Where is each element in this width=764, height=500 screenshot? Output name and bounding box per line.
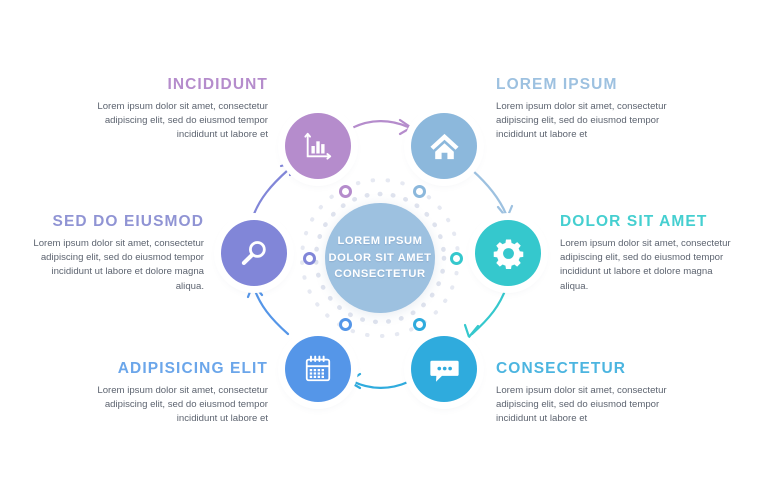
heading-adipisicing-elit: ADIPISICING ELIT bbox=[88, 360, 268, 378]
text-block-dolor-sit-amet: DOLOR SIT AMET Lorem ipsum dolor sit ame… bbox=[560, 213, 742, 294]
heading-consectetur: CONSECTETUR bbox=[496, 360, 678, 378]
heading-sed-do-eiusmod: SED DO EIUSMOD bbox=[22, 213, 204, 231]
magnifier-icon bbox=[239, 238, 269, 268]
text-block-sed-do-eiusmod: SED DO EIUSMOD Lorem ipsum dolor sit ame… bbox=[22, 213, 204, 294]
node-incididunt[interactable] bbox=[285, 113, 351, 179]
body-adipisicing-elit: Lorem ipsum dolor sit amet, consectetur … bbox=[88, 384, 268, 427]
center-line-2: DOLOR SIT AMET bbox=[329, 252, 432, 264]
ring-dot-consectetur bbox=[413, 318, 426, 331]
ring-dot-sed-do-eiusmod bbox=[303, 252, 316, 265]
calendar-icon bbox=[303, 354, 333, 384]
bar-chart-icon bbox=[303, 131, 333, 161]
center-hub-text: LOREM IPSUM DOLOR SIT AMET CONSECTETUR bbox=[329, 233, 432, 283]
center-line-3: CONSECTETUR bbox=[334, 268, 425, 280]
ring-dot-adipisicing-elit bbox=[339, 318, 352, 331]
node-lorem-ipsum[interactable] bbox=[411, 113, 477, 179]
body-sed-do-eiusmod: Lorem ipsum dolor sit amet, consectetur … bbox=[22, 237, 204, 294]
heading-lorem-ipsum: LOREM IPSUM bbox=[496, 76, 678, 94]
ring-dot-incididunt bbox=[339, 185, 352, 198]
center-hub: LOREM IPSUM DOLOR SIT AMET CONSECTETUR bbox=[325, 203, 435, 313]
infographic-canvas: LOREM IPSUM DOLOR SIT AMET CONSECTETUR bbox=[0, 0, 764, 500]
text-block-lorem-ipsum: LOREM IPSUM Lorem ipsum dolor sit amet, … bbox=[496, 76, 678, 143]
body-lorem-ipsum: Lorem ipsum dolor sit amet, consectetur … bbox=[496, 100, 678, 143]
chat-bubble-icon bbox=[429, 354, 460, 385]
body-dolor-sit-amet: Lorem ipsum dolor sit amet, consectetur … bbox=[560, 237, 742, 294]
center-line-1: LOREM IPSUM bbox=[338, 235, 423, 247]
node-dolor-sit-amet[interactable] bbox=[475, 220, 541, 286]
body-incididunt: Lorem ipsum dolor sit amet, consectetur … bbox=[88, 100, 268, 143]
node-sed-do-eiusmod[interactable] bbox=[221, 220, 287, 286]
gear-icon bbox=[493, 238, 524, 269]
text-block-consectetur: CONSECTETUR Lorem ipsum dolor sit amet, … bbox=[496, 360, 678, 427]
heading-dolor-sit-amet: DOLOR SIT AMET bbox=[560, 213, 742, 231]
node-adipisicing-elit[interactable] bbox=[285, 336, 351, 402]
text-block-adipisicing-elit: ADIPISICING ELIT Lorem ipsum dolor sit a… bbox=[88, 360, 268, 427]
heading-incididunt: INCIDIDUNT bbox=[88, 76, 268, 94]
home-icon bbox=[429, 131, 460, 162]
ring-dot-lorem-ipsum bbox=[413, 185, 426, 198]
body-consectetur: Lorem ipsum dolor sit amet, consectetur … bbox=[496, 384, 678, 427]
text-block-incididunt: INCIDIDUNT Lorem ipsum dolor sit amet, c… bbox=[88, 76, 268, 143]
ring-dot-dolor-sit-amet bbox=[450, 252, 463, 265]
node-consectetur[interactable] bbox=[411, 336, 477, 402]
